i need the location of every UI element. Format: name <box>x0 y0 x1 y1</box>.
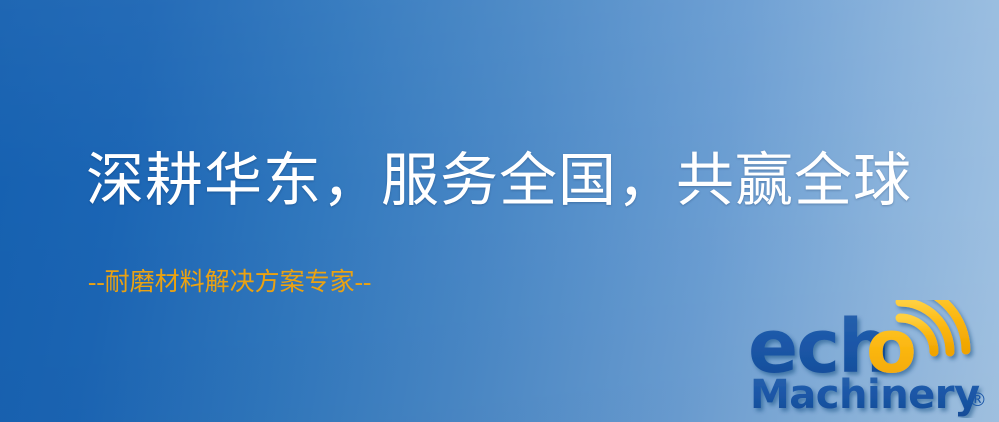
logo-text-machinery: Machinery <box>750 372 980 418</box>
banner-headline: 深耕华东，服务全国，共赢全球 <box>86 152 912 210</box>
banner-subtitle: --耐磨材料解决方案专家-- <box>88 270 371 295</box>
echo-machinery-logo[interactable]: ech o Machinery ® <box>746 300 994 418</box>
registered-trademark-icon: ® <box>968 389 987 411</box>
promotional-banner: 深耕华东，服务全国，共赢全球 --耐磨材料解决方案专家-- <box>0 0 999 422</box>
